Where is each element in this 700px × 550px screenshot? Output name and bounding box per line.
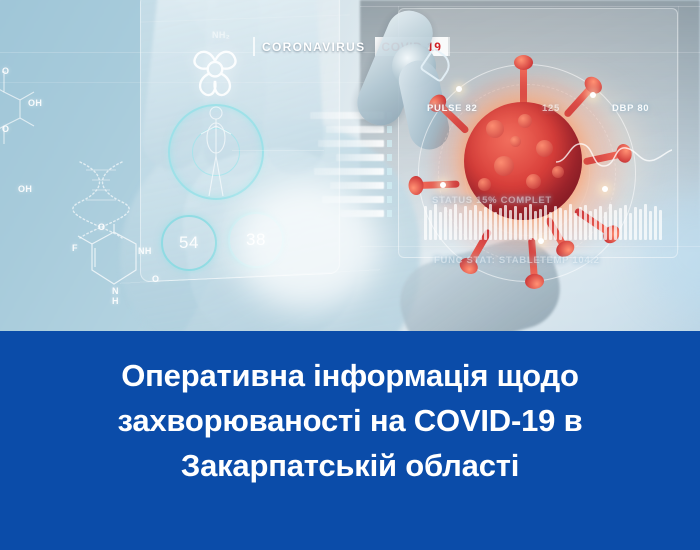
chem-label-f-left: F [72,243,78,253]
chem-label-n-left: N [112,286,119,296]
biohazard-icon [186,42,244,100]
hud-readout-pulse: PULSE 82 [427,103,477,114]
hud-sparkle-4 [440,182,446,188]
chem-label-o-ring2: O [152,274,159,284]
coronavirus-icon [412,58,642,288]
title-line-3: Закарпатській області [36,443,664,488]
ekg-wave-icon [556,136,672,172]
tick-spectrum [424,200,674,240]
hud-guide-line-7 [678,6,679,250]
hud-guide-line-3 [360,6,700,7]
virus-spike-1 [520,64,527,106]
chem-label-o-upper: O [2,66,9,76]
info-card: OH OH O O F NH N H O O [0,0,700,550]
hud-readout-dbp: DBP 80 [612,103,649,114]
hud-sparkle-1 [456,86,462,92]
virus-spike-7 [417,181,459,189]
bar-chart-icon [296,108,392,228]
hud-sparkle-3 [602,186,608,192]
hud-readout-sbp: 125 [542,103,560,114]
chemical-structure-left [0,62,58,182]
hud-readout-funcstat: FUNC STAT: STABLE [434,255,540,266]
chem-label-o-lower: O [2,124,9,134]
gauge-38: 38 [228,212,284,268]
dna-helix-icon [72,158,132,242]
chem-label-h-left: H [112,296,119,306]
chem-label-nh2-center: NH₂ [212,30,230,40]
page-title: Оперативна інформація щодо захворюваност… [0,353,700,488]
chem-label-oh-top: OH [28,98,42,108]
chem-label-nh-left: NH [138,246,152,256]
coronavirus-word: CORONAVIRUS [255,37,372,56]
title-banner: Оперативна інформація щодо захворюваност… [0,331,700,550]
hero-image: OH OH O O F NH N H O O [0,0,700,331]
hud-readout-temp: TEMP 104.2 [540,255,600,266]
title-line-2: захворюваності на COVID-19 в [36,398,664,443]
human-body-icon [200,104,232,200]
gauge-54: 54 [161,215,217,271]
title-line-1: Оперативна інформація щодо [36,353,664,398]
chem-label-oh-mid: OH [18,184,32,194]
hud-sparkle-2 [590,92,596,98]
